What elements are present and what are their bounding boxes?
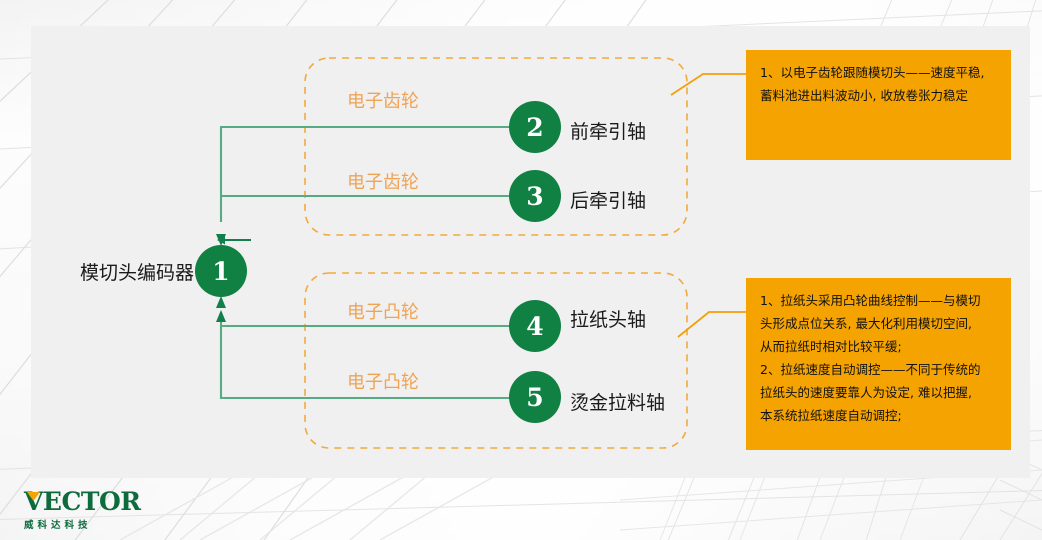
tech-label-gear-1: 电子齿轮 bbox=[347, 87, 419, 113]
label-source-node: 模切头编码器 bbox=[80, 258, 194, 285]
note-line: 头形成点位关系, 最大化利用模切空间, bbox=[760, 312, 997, 335]
note-line: 拉纸头的速度要靠人为设定, 难以把握, bbox=[760, 381, 997, 404]
note-box-cam: 1、拉纸头采用凸轮曲线控制——与模切 头形成点位关系, 最大化利用模切空间, 从… bbox=[746, 278, 1011, 450]
label-node-4: 拉纸头轴 bbox=[570, 305, 646, 332]
node-circle-5[interactable]: 5 bbox=[509, 371, 561, 423]
tech-label-cam-1: 电子凸轮 bbox=[347, 298, 419, 324]
note-line: 2、拉纸速度自动调控——不同于传统的 bbox=[760, 358, 997, 381]
note-line: 1、拉纸头采用凸轮曲线控制——与模切 bbox=[760, 289, 997, 312]
label-node-3: 后牵引轴 bbox=[570, 186, 646, 213]
note-line: 从而拉纸时相对比较平缓; bbox=[760, 335, 997, 358]
slide-canvas: 1 2 3 4 5 模切头编码器 前牵引轴 后牵引轴 拉纸头轴 烫金拉料轴 电子… bbox=[0, 0, 1042, 540]
node-circle-2[interactable]: 2 bbox=[509, 101, 561, 153]
company-logo: VECTOR 威科达科技 bbox=[24, 489, 140, 527]
node-circle-4[interactable]: 4 bbox=[509, 300, 561, 352]
logo-word-text: VECTOR bbox=[24, 487, 141, 516]
tech-label-cam-2: 电子凸轮 bbox=[347, 368, 419, 394]
logo-chinese-text: 威科达科技 bbox=[24, 517, 140, 531]
tech-label-gear-2: 电子齿轮 bbox=[347, 168, 419, 194]
note-line: 本系统拉纸速度自动调控; bbox=[760, 404, 997, 427]
label-node-2: 前牵引轴 bbox=[570, 117, 646, 144]
note-line: 1、以电子齿轮跟随模切头——速度平稳, bbox=[760, 61, 997, 84]
node-circle-3[interactable]: 3 bbox=[509, 170, 561, 222]
node-circle-1[interactable]: 1 bbox=[195, 245, 247, 297]
logo-wordmark: VECTOR bbox=[24, 489, 140, 515]
note-line: 蓄料池进出料波动小, 收放卷张力稳定 bbox=[760, 84, 997, 107]
note-box-gear: 1、以电子齿轮跟随模切头——速度平稳, 蓄料池进出料波动小, 收放卷张力稳定 bbox=[746, 50, 1011, 160]
label-node-5: 烫金拉料轴 bbox=[570, 388, 665, 415]
